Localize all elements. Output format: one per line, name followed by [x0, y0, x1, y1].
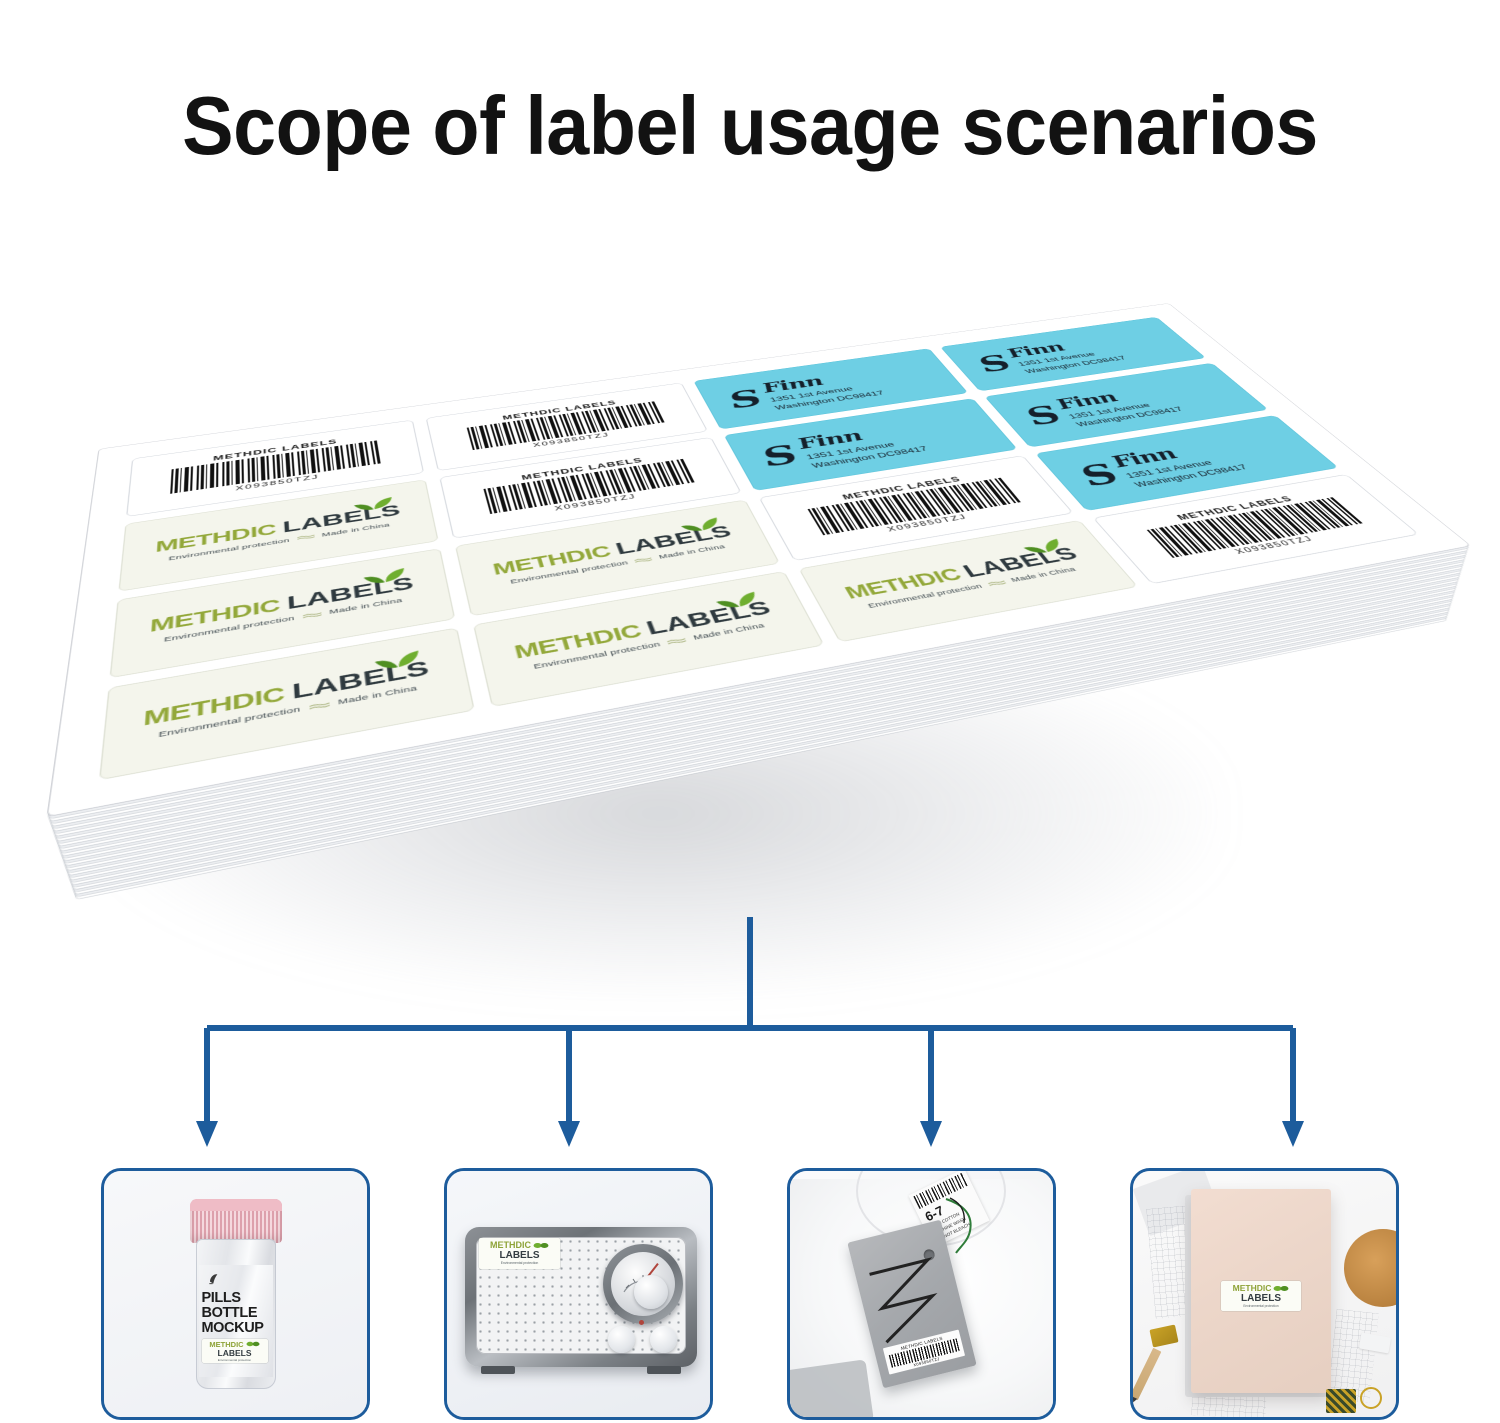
pills-bottle-scene: PILLS BOTTLE MOCKUP METHDIC LABELS Envir…: [104, 1171, 367, 1417]
notebook-cover: METHDIC LABELS Environmental protection: [1191, 1189, 1331, 1393]
address-lines: Finn1351 1st AvenueWashington DC98417: [1050, 381, 1186, 428]
bottle-text-line3: MOCKUP: [202, 1321, 272, 1336]
radio-foot-left: [481, 1366, 515, 1374]
arrow-head-2: [558, 1121, 580, 1147]
sticker-word-text: LABELS: [1241, 1294, 1281, 1304]
address-lines: Finn1351 1st AvenueWashington DC98417: [1002, 333, 1129, 375]
clothing-scene: 6-7 100% COTTONMACHINE WASHDO NOT BLEACH…: [790, 1171, 1053, 1417]
radio-brand-sticker: METHDIC LABELS Environmental protection: [479, 1238, 560, 1269]
wave-icon: [309, 701, 330, 711]
page-title: Scope of label usage scenarios: [53, 78, 1448, 174]
retro-radio: METHDIC LABELS Environmental protection: [465, 1227, 697, 1367]
connector-svg: [0, 905, 1500, 1155]
bottle-product-text: PILLS BOTTLE MOCKUP: [202, 1291, 272, 1335]
wave-icon: [987, 580, 1007, 588]
stack-3d-stage: METHDIC LABELSX093850TZJMETHDIC LABELSX0…: [120, 215, 1380, 855]
wave-icon: [667, 637, 687, 646]
radio-foot-right: [647, 1366, 681, 1374]
shirt-corner-shadow: [787, 1359, 874, 1420]
leaf-icon: [533, 1242, 549, 1249]
wave-icon: [303, 611, 322, 619]
radio-dial-face: [611, 1252, 675, 1316]
sticker-brand-text: METHDIC: [1233, 1284, 1272, 1293]
notebook-card[interactable]: METHDIC LABELS Environmental protection: [1130, 1168, 1399, 1420]
address-monogram: S: [757, 443, 801, 469]
address-monogram: S: [972, 353, 1015, 374]
bottle-text-line1: PILLS: [202, 1291, 272, 1306]
sticker-tagline: Environmental protection: [501, 1262, 539, 1265]
address-lines: Finn1351 1st AvenueWashington DC98417: [758, 366, 886, 411]
dial-indicator-dot: [639, 1320, 644, 1325]
notebook-brand-sticker: METHDIC LABELS Environmental protection: [1221, 1281, 1301, 1311]
radio-card[interactable]: METHDIC LABELS Environmental protection: [444, 1168, 713, 1420]
address-lines: Finn1351 1st AvenueWashington DC98417: [1105, 436, 1251, 490]
notebook-scene: METHDIC LABELS Environmental protection: [1133, 1171, 1396, 1417]
leaf-icon: [1273, 1285, 1289, 1292]
sticker-tagline: Environmental protection: [218, 1359, 251, 1362]
arrow-head-1: [196, 1121, 218, 1147]
arrow-head-3: [920, 1121, 942, 1147]
stack-3d-body: METHDIC LABELSX093850TZJMETHDIC LABELSX0…: [48, 304, 1470, 817]
label-sheet-stack-illustration: METHDIC LABELSX093850TZJMETHDIC LABELSX0…: [0, 195, 1500, 925]
pill-bottle: PILLS BOTTLE MOCKUP METHDIC LABELS Envir…: [182, 1199, 290, 1395]
radio-scene: METHDIC LABELS Environmental protection: [447, 1171, 710, 1417]
radio-knob-left: [608, 1326, 635, 1353]
radio-tuning-dial: [603, 1244, 683, 1324]
bottle-text-line2: BOTTLE: [202, 1306, 272, 1321]
address-lines: Finn1351 1st AvenueWashington DC98417: [793, 418, 930, 470]
bottle-cap-top: [190, 1199, 282, 1211]
sticker-word-text: LABELS: [218, 1349, 252, 1358]
sticker-brand-text: METHDIC: [490, 1241, 531, 1250]
pills-bottle-card[interactable]: PILLS BOTTLE MOCKUP METHDIC LABELS Envir…: [101, 1168, 370, 1420]
dial-knob: [634, 1275, 668, 1309]
bottle-brand-sticker: METHDIC LABELS Environmental protection: [202, 1339, 268, 1363]
address-monogram: S: [1020, 404, 1067, 428]
wave-icon: [634, 556, 653, 563]
arrow-head-4: [1282, 1121, 1304, 1147]
leaf-icon: [246, 1341, 260, 1347]
wave-icon: [297, 534, 315, 541]
radio-knob-right: [650, 1326, 677, 1353]
fabric-swatch: [1326, 1389, 1356, 1413]
sticker-brand-text: METHDIC: [209, 1341, 243, 1349]
paper-clip-ring: [1360, 1387, 1382, 1409]
connector-bracket: [0, 905, 1500, 1155]
pill-logo-icon: [206, 1271, 222, 1287]
address-monogram: S: [724, 388, 765, 411]
clothing-hang-tag-card[interactable]: 6-7 100% COTTONMACHINE WASHDO NOT BLEACH…: [787, 1168, 1056, 1420]
sticker-tagline: Environmental protection: [1243, 1305, 1278, 1308]
sticker-word-text: LABELS: [500, 1251, 540, 1261]
scenario-card-row: PILLS BOTTLE MOCKUP METHDIC LABELS Envir…: [0, 1168, 1500, 1420]
